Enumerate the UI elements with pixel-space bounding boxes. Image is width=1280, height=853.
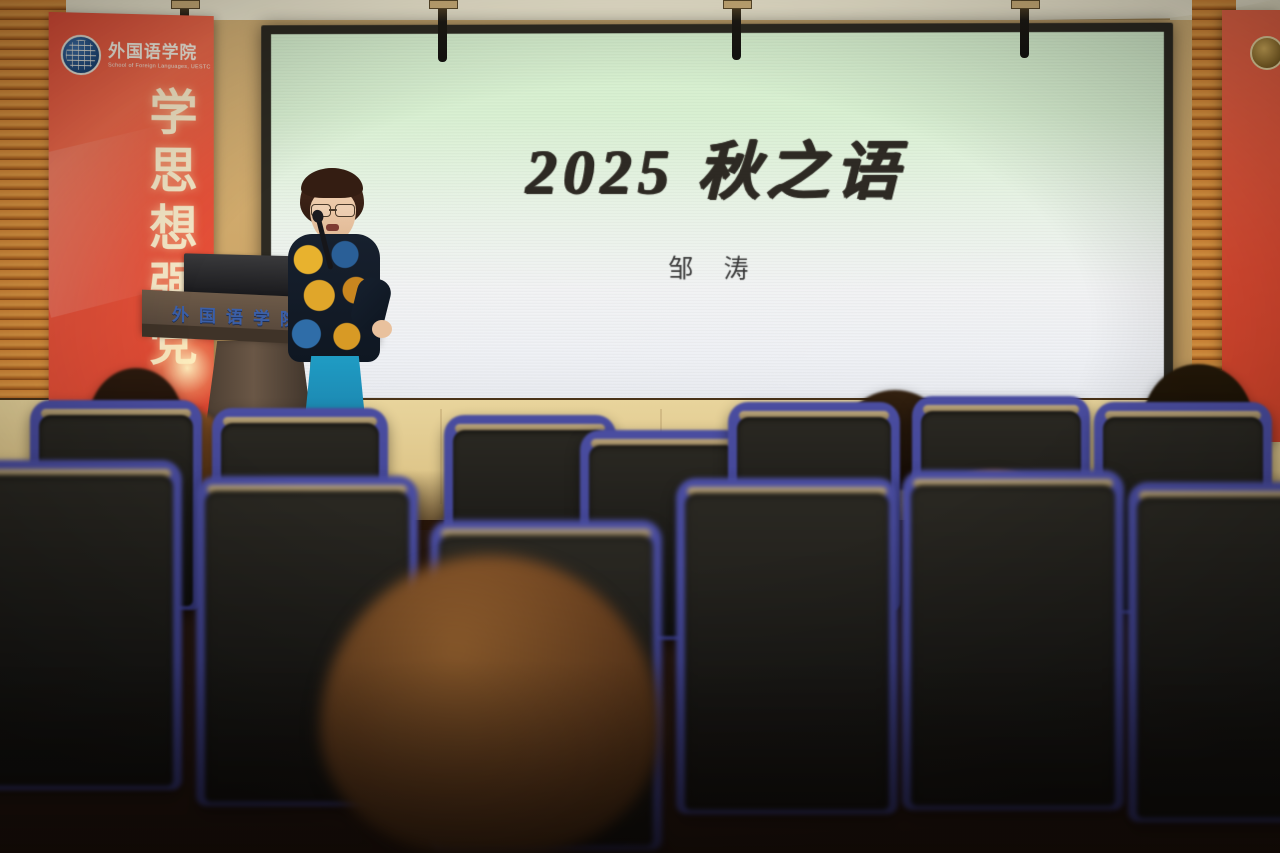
slide-presenter-name: 邹 涛 bbox=[271, 249, 1164, 286]
spotlight-mount bbox=[171, 0, 200, 9]
circular-emblem-icon bbox=[1250, 36, 1280, 70]
ceiling-spotlight bbox=[438, 0, 447, 62]
banner-org-name-cn: 外国语学院 bbox=[108, 43, 211, 63]
banner-logo-row: 外国语学院 School of Foreign Languages, UESTC bbox=[61, 34, 211, 77]
projection-screen: 2025 秋之语 邹 涛 bbox=[271, 32, 1164, 400]
speaker-mouth bbox=[326, 224, 339, 231]
globe-icon bbox=[61, 34, 101, 75]
spotlight-mount bbox=[429, 0, 458, 9]
spotlight-mount bbox=[1011, 0, 1040, 9]
spotlight-mount bbox=[723, 0, 752, 9]
projection-screen-frame: 2025 秋之语 邹 涛 bbox=[261, 23, 1173, 410]
speaker-hand bbox=[372, 320, 392, 338]
ceiling-spotlight bbox=[1020, 0, 1029, 58]
slide-title: 2025 秋之语 bbox=[271, 120, 1164, 212]
lecture-hall-photo: 2025 秋之语 邹 涛 外国语学院 School of Foreign Lan… bbox=[0, 0, 1280, 853]
banner-org-name-en: School of Foreign Languages, UESTC bbox=[108, 62, 211, 70]
floor-shadow bbox=[0, 660, 1280, 853]
speaker-hair-front bbox=[301, 168, 363, 198]
ceiling-spotlight bbox=[732, 0, 741, 60]
